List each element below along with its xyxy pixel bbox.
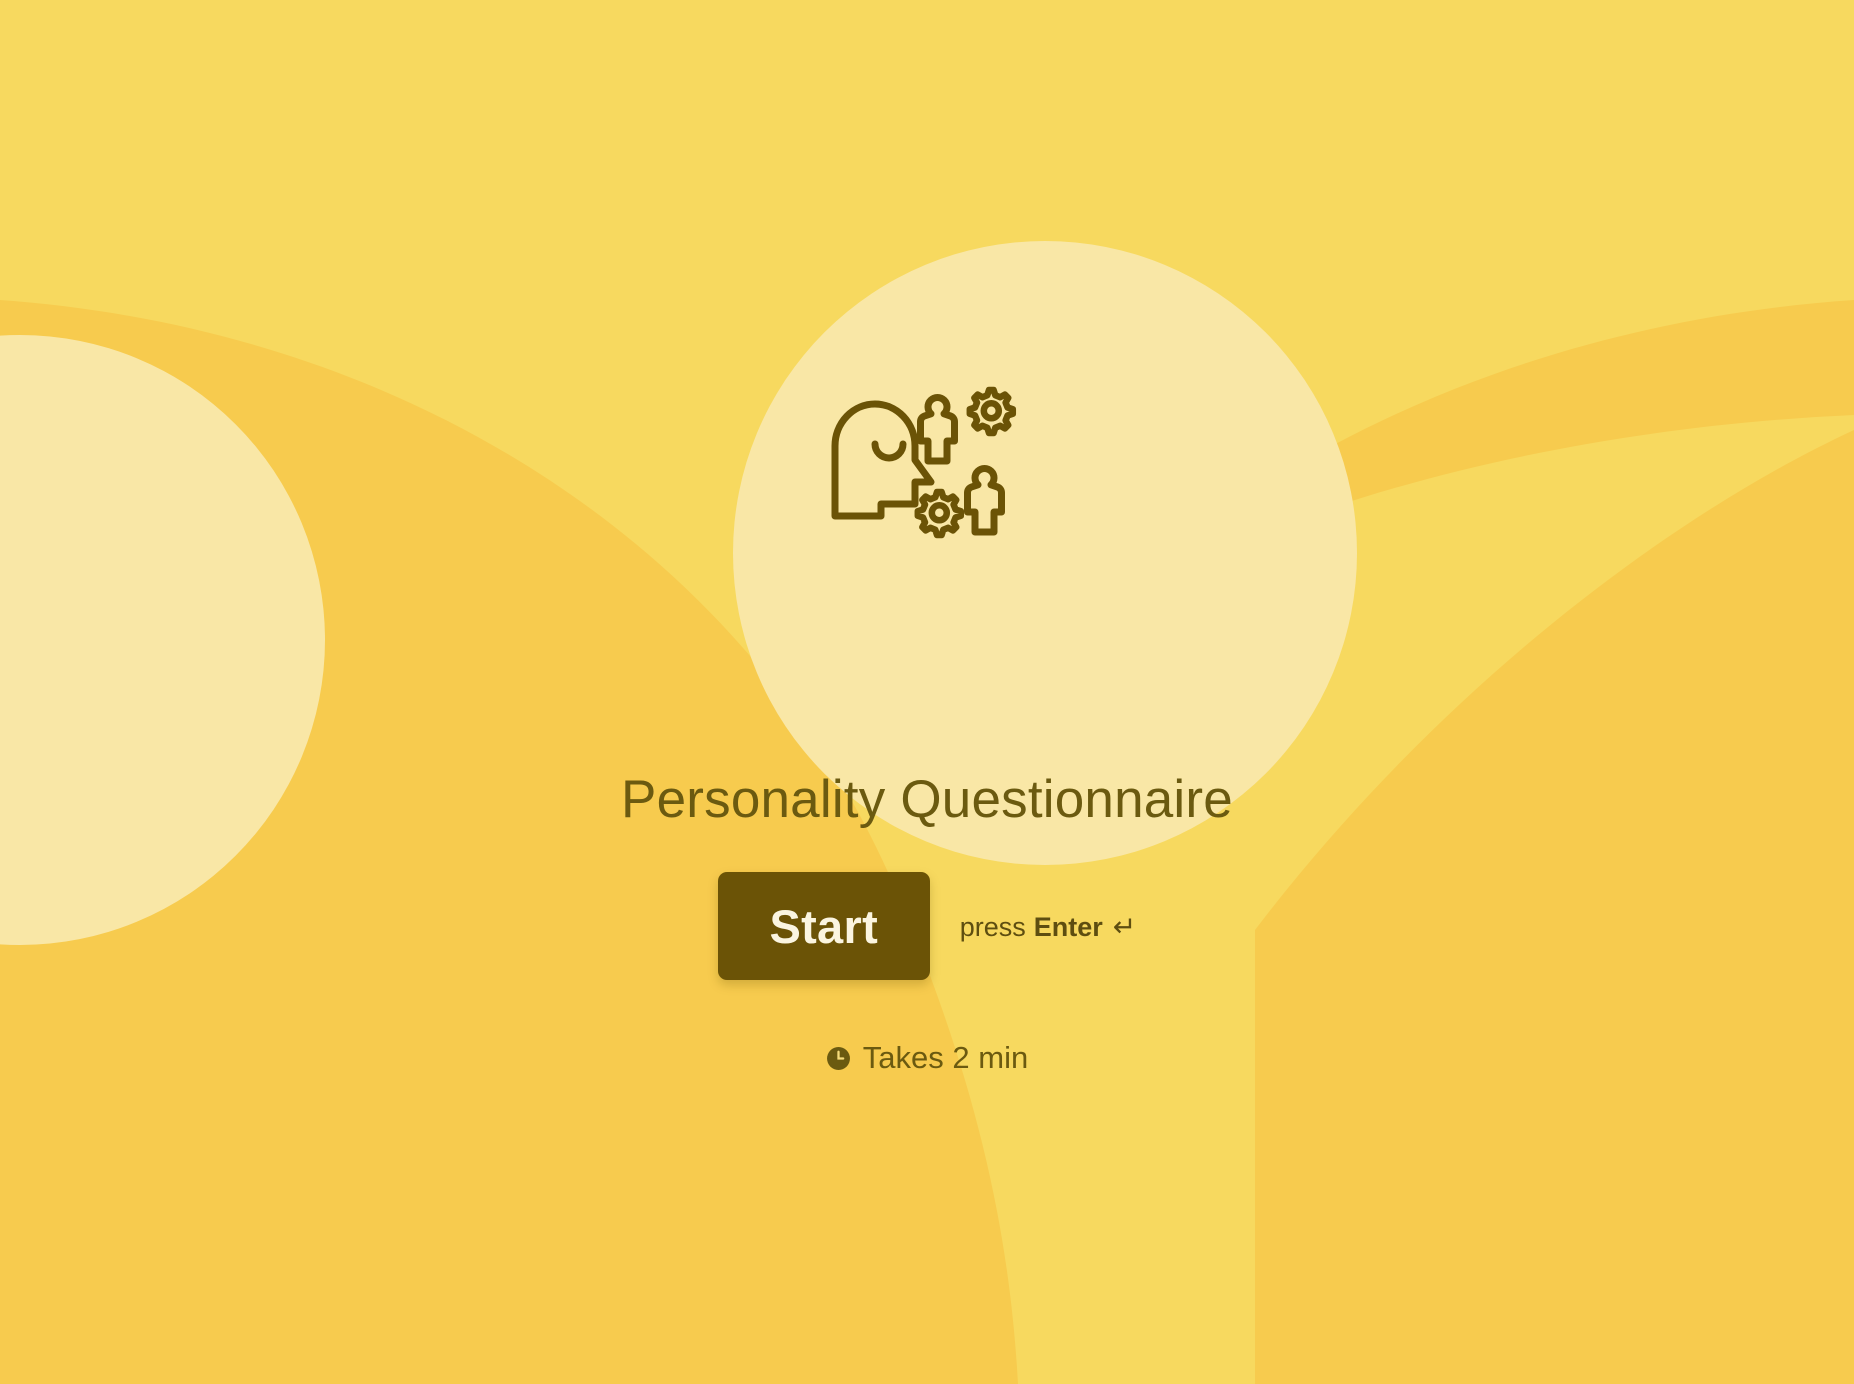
hint-enter-key-label: Enter xyxy=(1034,912,1103,943)
enter-key-hint: press Enter ↵ xyxy=(960,910,1137,943)
clock-icon xyxy=(826,1046,851,1071)
duration-label: Takes 2 min xyxy=(863,1040,1028,1076)
enter-arrow-icon: ↵ xyxy=(1113,910,1136,943)
closed-eye-icon xyxy=(875,444,903,458)
person-figure-icon xyxy=(968,469,1002,533)
hint-press-label: press xyxy=(960,912,1026,943)
gear-icon xyxy=(970,390,1013,433)
page-title: Personality Questionnaire xyxy=(0,771,1854,829)
duration-row: Takes 2 min xyxy=(0,1040,1854,1076)
questionnaire-intro-screen: Personality Questionnaire Start press En… xyxy=(0,0,1854,1384)
intro-content: Personality Questionnaire Start press En… xyxy=(0,0,1854,1384)
cta-inner: Start press Enter ↵ xyxy=(718,872,1137,980)
gear-icon xyxy=(918,492,961,535)
head-profile-people-gears-icon xyxy=(827,368,1027,548)
start-button[interactable]: Start xyxy=(718,872,930,980)
person-figure-icon xyxy=(921,398,955,462)
cta-row: Start press Enter ↵ xyxy=(0,872,1854,980)
